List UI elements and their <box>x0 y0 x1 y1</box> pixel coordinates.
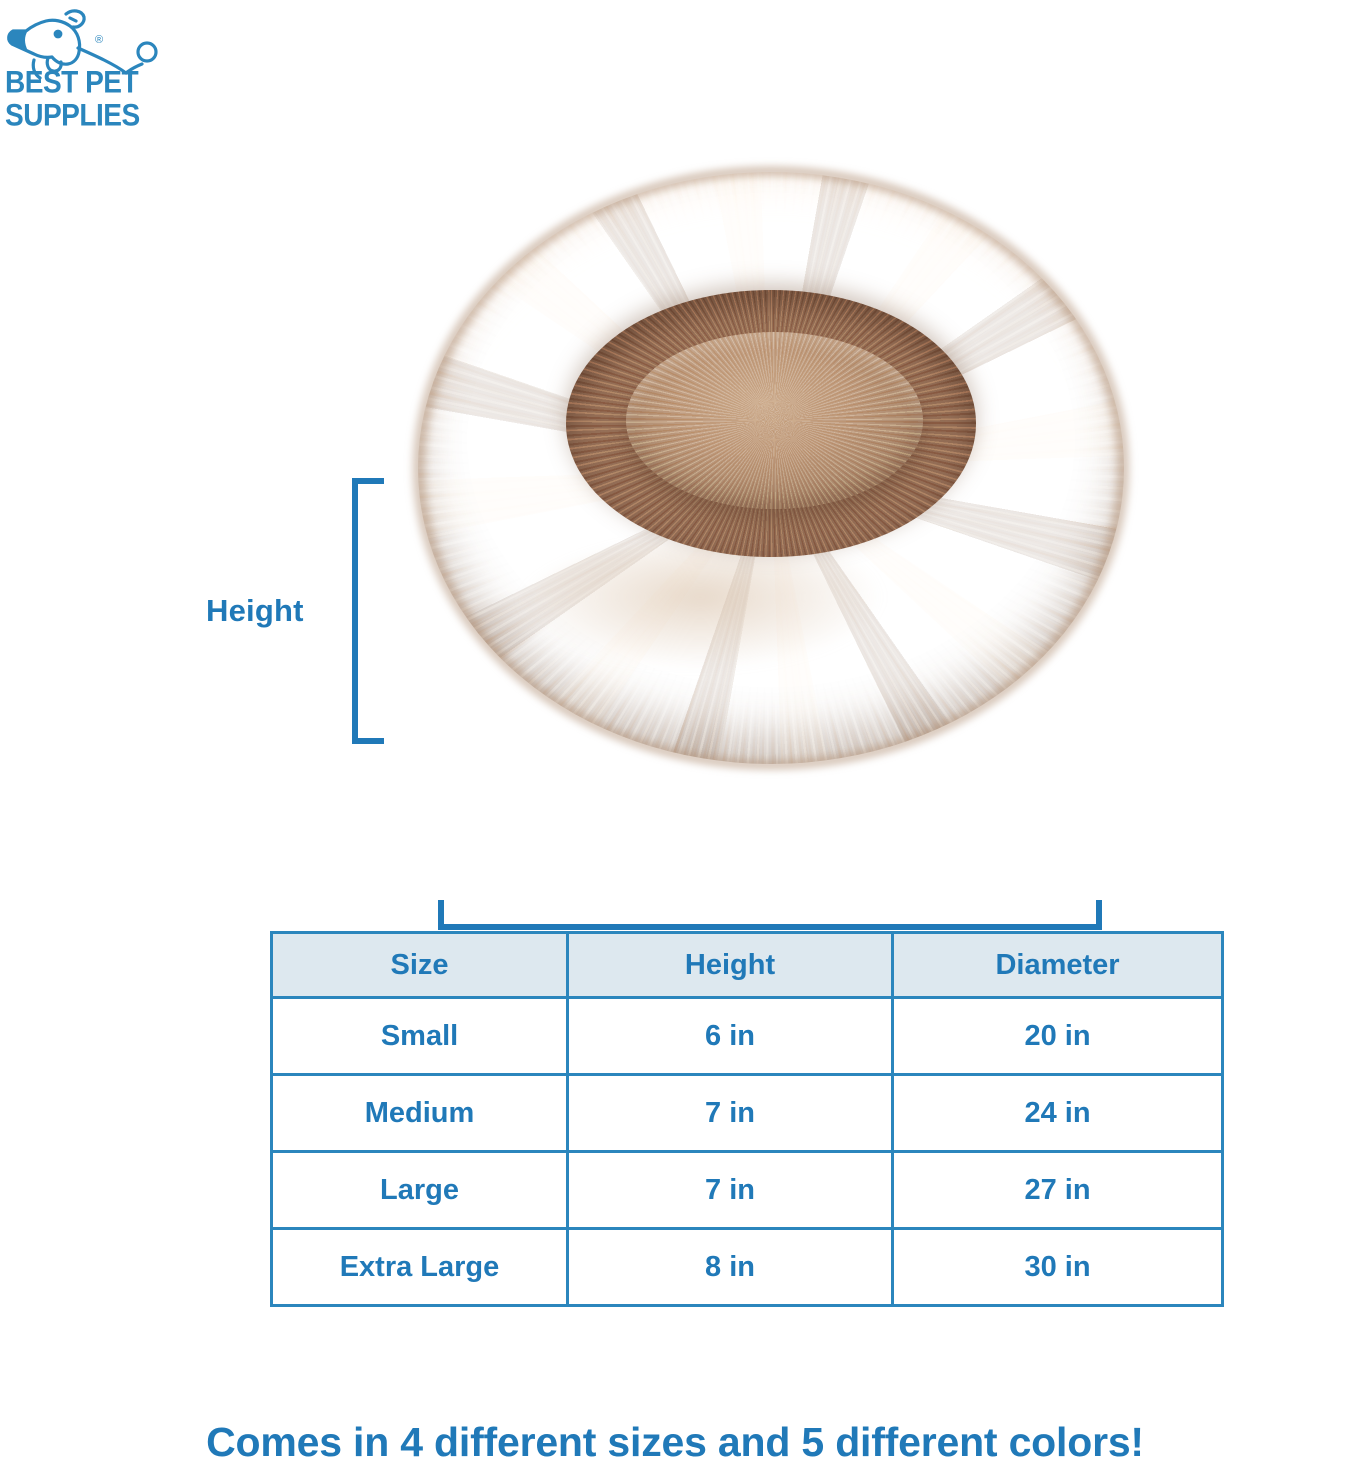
bed-front-lobe <box>510 539 934 705</box>
column-header-height: Height <box>568 933 893 998</box>
dog-logo-icon: ® BEST PET SUPPLIES <box>4 4 164 130</box>
cell-size: Small <box>272 998 568 1075</box>
logo-line-2: SUPPLIES <box>5 98 140 130</box>
table-row: Medium 7 in 24 in <box>272 1075 1223 1152</box>
brand-logo: ® BEST PET SUPPLIES <box>4 4 164 130</box>
table-row: Small 6 in 20 in <box>272 998 1223 1075</box>
table-header-row: Size Height Diameter <box>272 933 1223 998</box>
cell-size: Medium <box>272 1075 568 1152</box>
cell-diameter: 30 in <box>893 1229 1223 1306</box>
cell-height: 7 in <box>568 1152 893 1229</box>
bed-center-cushion <box>626 332 923 510</box>
height-bracket <box>352 478 384 744</box>
cell-diameter: 20 in <box>893 998 1223 1075</box>
column-header-size: Size <box>272 933 568 998</box>
footer-caption: Comes in 4 different sizes and 5 differe… <box>0 1419 1350 1466</box>
table-row: Large 7 in 27 in <box>272 1152 1223 1229</box>
dog-eye-icon <box>54 30 63 39</box>
bed-outer-ring <box>418 172 1124 764</box>
bed-cushion-fur-texture <box>626 332 923 510</box>
product-illustration: Height Diameter <box>0 150 1350 790</box>
diameter-bracket <box>438 900 1102 930</box>
cell-height: 7 in <box>568 1075 893 1152</box>
size-chart-table: Size Height Diameter Small 6 in 20 in Me… <box>270 931 1224 1307</box>
cell-height: 6 in <box>568 998 893 1075</box>
cell-height: 8 in <box>568 1229 893 1306</box>
cell-size: Large <box>272 1152 568 1229</box>
cell-diameter: 24 in <box>893 1075 1223 1152</box>
cell-size: Extra Large <box>272 1229 568 1306</box>
cell-diameter: 27 in <box>893 1152 1223 1229</box>
registered-mark: ® <box>95 34 103 46</box>
column-header-diameter: Diameter <box>893 933 1223 998</box>
logo-line-1: BEST PET <box>5 65 139 100</box>
pet-bed-image <box>418 172 1124 764</box>
height-label: Height <box>206 593 304 629</box>
table-row: Extra Large 8 in 30 in <box>272 1229 1223 1306</box>
